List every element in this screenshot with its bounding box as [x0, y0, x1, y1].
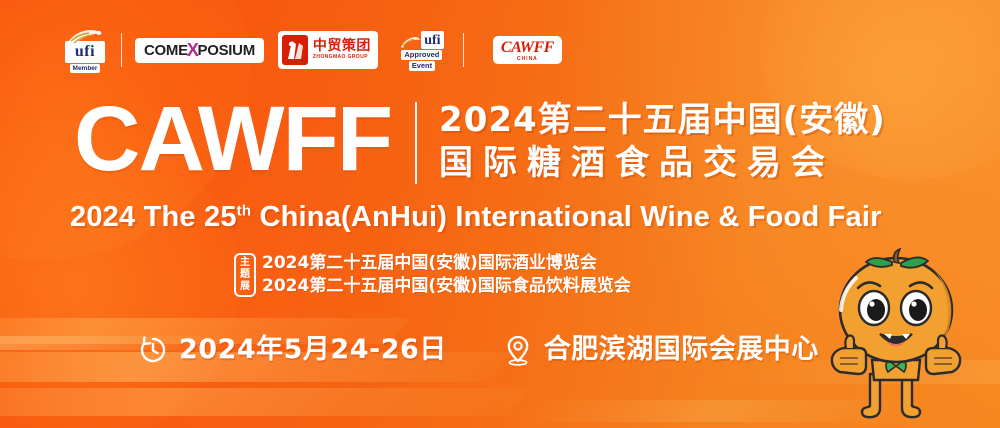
english-subtitle-post: China(AnHui) International Wine & Food F… — [251, 201, 881, 233]
ufi-approved-line1: Approved — [401, 50, 442, 60]
event-venue-text: 合肥滨湖国际会展中心 — [544, 334, 819, 366]
cawff-small-logo: CAWFF CHINA — [493, 36, 562, 64]
logo-divider-1 — [121, 33, 122, 67]
event-info-row: 2024年5月24-26日 合肥滨湖国际会展中心 — [138, 334, 819, 366]
event-date-text: 2024年5月24-26日 — [179, 334, 447, 366]
theme-line-1: 2024第二十五届中国(安徽)国际酒业博览会 — [262, 253, 631, 274]
ufi-wing-icon — [66, 28, 104, 45]
hero-chinese-line-2: 国际糖酒食品交易会 — [439, 143, 886, 184]
event-banner: ufi Member COME X POSIUM 中贸策团 ZHONGMAO — [0, 0, 1000, 428]
clock-icon — [138, 335, 168, 365]
hero-divider — [415, 102, 417, 184]
sponsor-logo-bar: ufi Member COME X POSIUM 中贸策团 ZHONGMAO — [62, 26, 562, 74]
english-subtitle-ordinal: th — [237, 202, 252, 219]
zhongmao-group-logo: 中贸策团 ZHONGMAO GROUP — [278, 31, 378, 69]
comexposium-part1: COME — [144, 43, 188, 58]
ufi-approved-event-logo: ufi Approved Event — [394, 27, 450, 73]
event-venue-item: 合肥滨湖国际会展中心 — [503, 334, 819, 366]
event-date-item: 2024年5月24-26日 — [138, 334, 447, 366]
ufi-mark-text: ufi — [75, 44, 95, 60]
comexposium-logo: COME X POSIUM — [135, 38, 264, 63]
ufi-approved-line2: Event — [409, 61, 435, 71]
comexposium-part2: POSIUM — [198, 43, 255, 58]
theme-badge-char-1: 主 — [240, 257, 250, 269]
theme-badge-char-3: 展 — [240, 281, 250, 293]
zhongmao-cn-name: 中贸策团 — [313, 39, 371, 54]
cawff-hero-mark: CAWFF — [74, 96, 391, 182]
theme-badge: 主 题 展 — [234, 253, 256, 297]
background-ribbon-3 — [0, 388, 531, 416]
hero-title-block: CAWFF 2024第二十五届中国(安徽) 国际糖酒食品交易会 — [74, 96, 886, 184]
cawff-small-sub: CHINA — [517, 56, 538, 62]
zhongmao-emblem-icon — [282, 35, 308, 65]
zhongmao-en-name: ZHONGMAO GROUP — [313, 54, 371, 61]
theme-badge-char-2: 题 — [240, 269, 250, 281]
cawff-small-mark: CAWFF — [501, 39, 554, 56]
english-subtitle: 2024 The 25th China(AnHui) International… — [70, 200, 882, 234]
ufi-approved-wordmark: ufi — [421, 31, 443, 49]
ufi-member-tag: Member — [70, 64, 101, 73]
ufi-approved-mark-text: ufi — [424, 33, 440, 48]
logo-divider-2 — [463, 33, 464, 67]
theme-line-2: 2024第二十五届中国(安徽)国际食品饮料展览会 — [262, 276, 631, 297]
location-pin-icon — [503, 334, 533, 366]
english-subtitle-pre: 2024 The 25 — [70, 201, 237, 233]
ufi-approved-wing-icon — [400, 35, 420, 49]
theme-exhibition-block: 主 题 展 2024第二十五届中国(安徽)国际酒业博览会 2024第二十五届中国… — [234, 253, 631, 297]
ufi-member-logo: ufi Member — [62, 27, 108, 73]
hero-chinese-line-1: 2024第二十五届中国(安徽) — [439, 100, 886, 141]
orange-mascot — [806, 248, 986, 428]
